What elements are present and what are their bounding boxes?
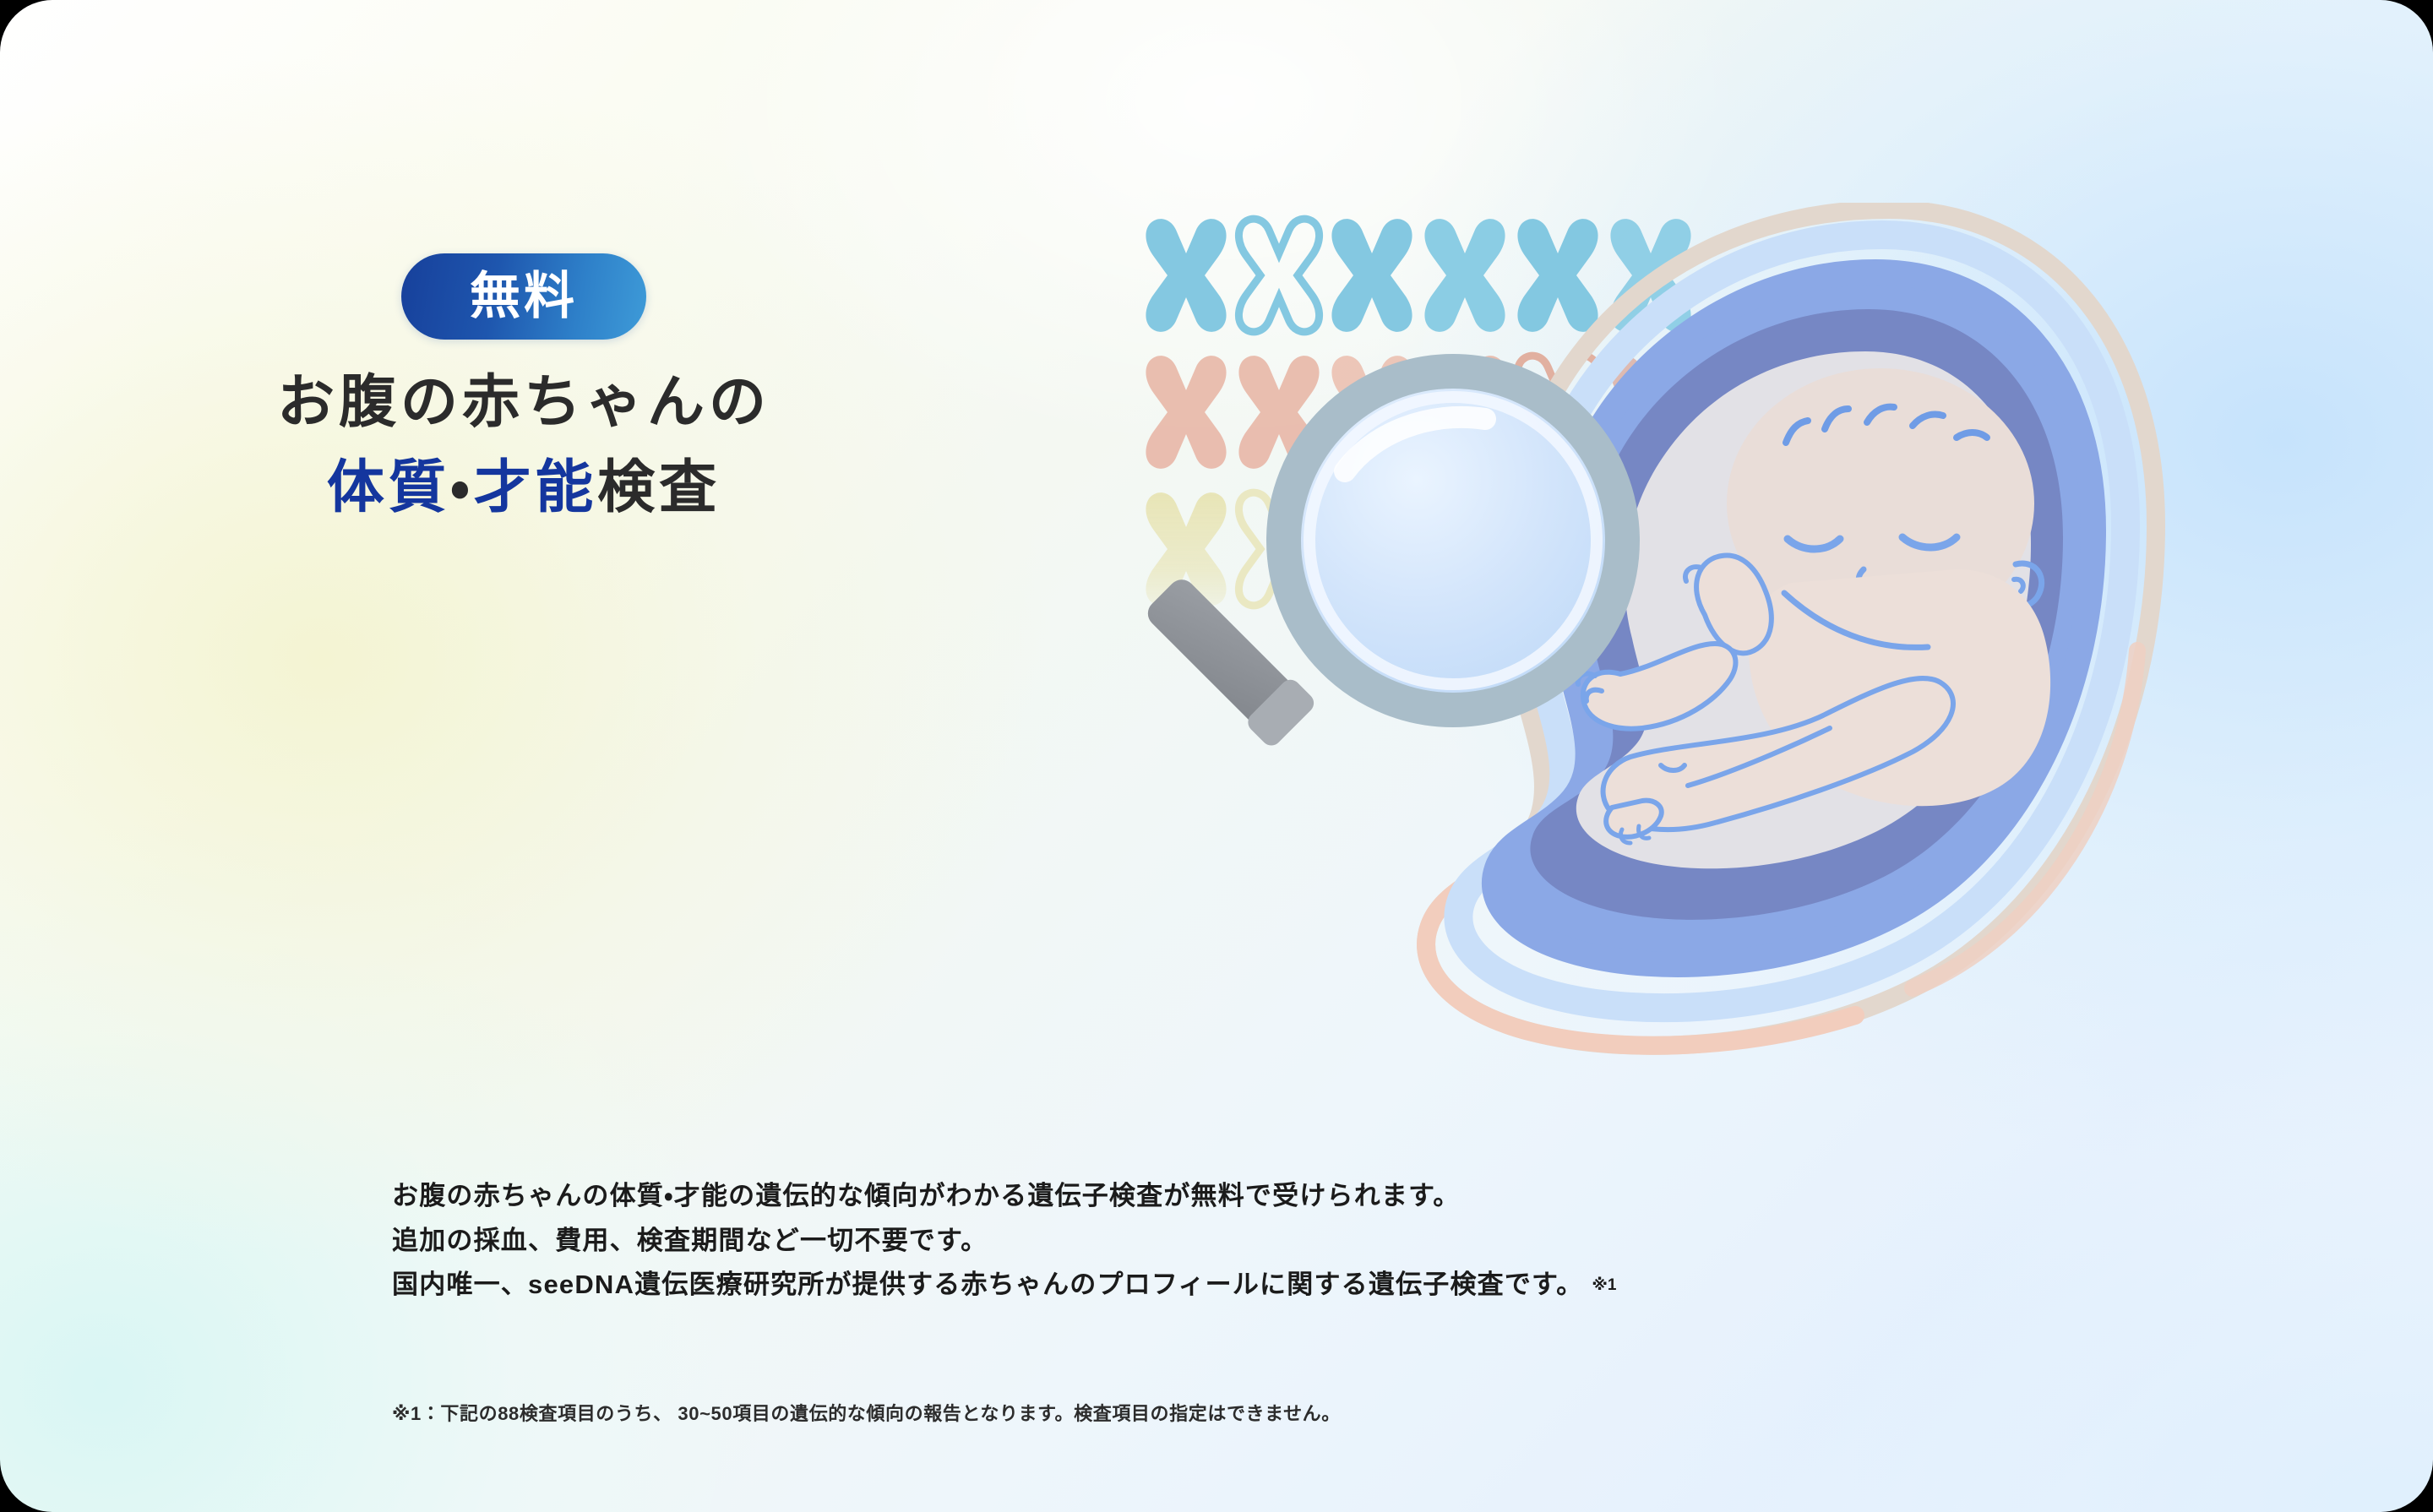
footnote-reference-marker: ※1 (1592, 1276, 1616, 1294)
free-badge: 無料 (401, 253, 646, 340)
free-badge-label: 無料 (470, 271, 578, 322)
hero-text-column: 無料 お腹の赤ちゃんの 体質・才能検査 (0, 253, 1048, 528)
page-title-keyword-talent: 才能 (474, 455, 597, 519)
footnote-text: ※1：下記の88検査項目のうち、 30~50項目の遺伝的な傾向の報告となります。… (392, 1399, 1341, 1426)
page-title-line2: 体質・才能検査 (0, 447, 1048, 529)
description-line-1: お腹の赤ちゃんの体質・才能の遺伝的な傾向がわかる遺伝子検査が無料で受けられます。 (392, 1179, 2183, 1213)
hero-card: 無料 お腹の赤ちゃんの 体質・才能検査 お腹の赤ちゃんの体質・才能の遺伝的な傾向… (0, 0, 2433, 1512)
hero-illustration (1098, 203, 2180, 1149)
description-line-3: 国内唯一、seeDNA遺伝医療研究所が提供する赤ちゃんのプロフィールに関する遺伝… (392, 1268, 2183, 1302)
description-line-2: 追加の採血、費用、検査期間など一切不要です。 (392, 1224, 2183, 1258)
page-title-separator-dot: ・ (450, 455, 474, 519)
description-block: お腹の赤ちゃんの体質・才能の遺伝的な傾向がわかる遺伝子検査が無料で受けられます。… (392, 1179, 2183, 1302)
magnifier-lens (1301, 389, 1605, 693)
page-title-keyword-constitution: 体質 (327, 455, 450, 519)
page-title-line1: お腹の赤ちゃんの (0, 362, 1048, 443)
description-line-3-text: 国内唯一、seeDNA遺伝医療研究所が提供する赤ちゃんのプロフィールに関する遺伝… (392, 1270, 1583, 1299)
page-title-suffix-test: 検査 (597, 455, 721, 519)
